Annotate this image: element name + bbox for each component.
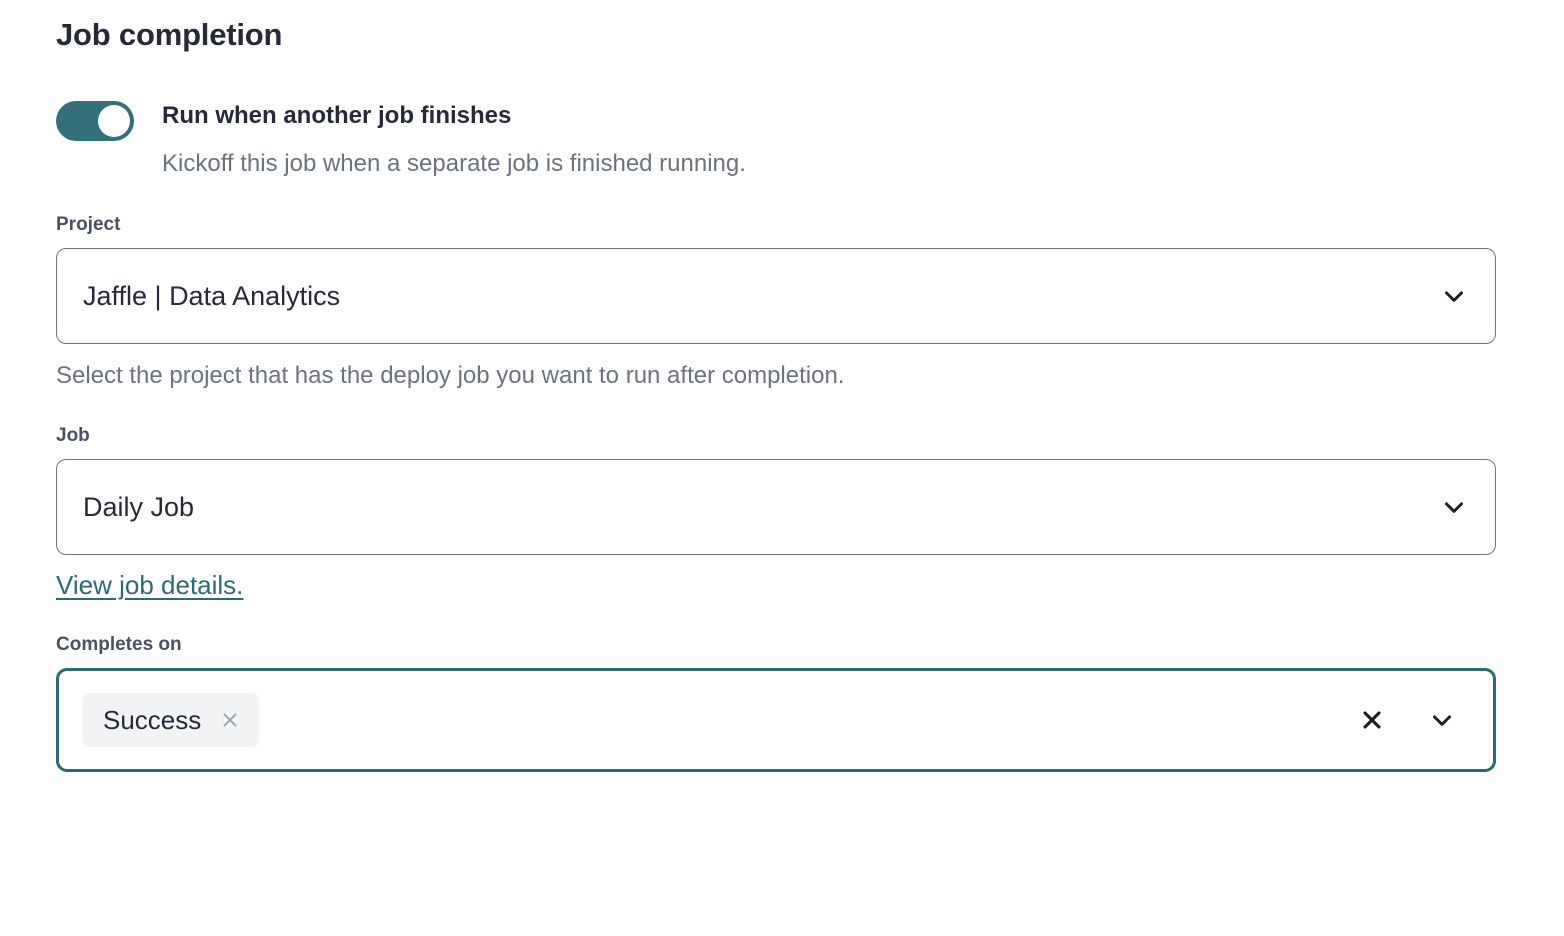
job-label: Job bbox=[56, 424, 1508, 448]
project-select-value: Jaffle | Data Analytics bbox=[83, 279, 1439, 313]
close-icon[interactable] bbox=[217, 707, 243, 733]
project-help-text: Select the project that has the deploy j… bbox=[56, 360, 1508, 392]
toggle-text-block: Run when another job finishes Kickoff th… bbox=[162, 99, 746, 181]
close-icon[interactable] bbox=[1357, 705, 1387, 735]
tag-success: Success bbox=[83, 693, 259, 747]
page-title: Job completion bbox=[56, 0, 1508, 55]
completes-on-multiselect[interactable]: Success bbox=[56, 668, 1496, 772]
chevron-down-icon[interactable] bbox=[1427, 705, 1457, 735]
job-completion-panel: Job completion Run when another job fini… bbox=[0, 0, 1564, 936]
job-field-group: Job Daily Job View job details. bbox=[56, 424, 1508, 601]
job-select-value: Daily Job bbox=[83, 490, 1439, 524]
chevron-down-icon[interactable] bbox=[1439, 492, 1469, 522]
toggle-label: Run when another job finishes bbox=[162, 100, 746, 132]
chevron-down-icon[interactable] bbox=[1439, 281, 1469, 311]
project-field-group: Project Jaffle | Data Analytics Select t… bbox=[56, 213, 1508, 392]
run-when-another-job-finishes-row: Run when another job finishes Kickoff th… bbox=[56, 99, 1508, 181]
selected-tags: Success bbox=[83, 693, 1357, 747]
project-select[interactable]: Jaffle | Data Analytics bbox=[56, 248, 1496, 344]
completes-on-field-group: Completes on Success bbox=[56, 633, 1508, 772]
job-select[interactable]: Daily Job bbox=[56, 459, 1496, 555]
tag-label: Success bbox=[103, 704, 201, 736]
multiselect-actions bbox=[1357, 705, 1471, 735]
view-job-details-link[interactable]: View job details. bbox=[56, 569, 243, 601]
run-when-another-job-finishes-toggle[interactable] bbox=[56, 101, 134, 141]
project-label: Project bbox=[56, 213, 1508, 237]
completes-on-label: Completes on bbox=[56, 633, 1508, 657]
toggle-knob bbox=[98, 105, 130, 137]
toggle-description: Kickoff this job when a separate job is … bbox=[162, 147, 746, 181]
